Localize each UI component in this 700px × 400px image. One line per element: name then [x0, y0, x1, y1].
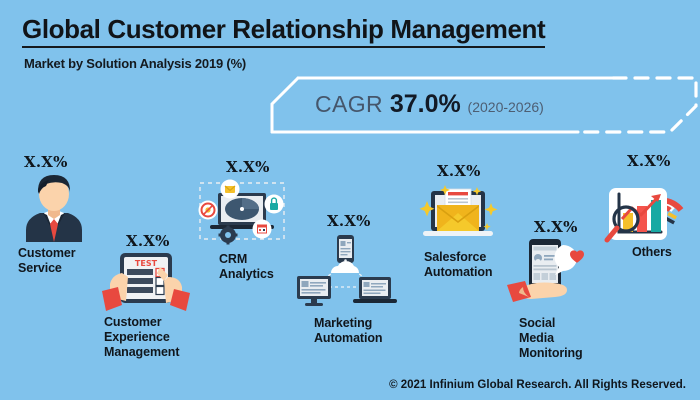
cloud-devices-icon: [293, 233, 397, 312]
percent-label: X.X%: [226, 158, 270, 176]
page-subtitle: Market by Solution Analysis 2019 (%): [24, 56, 246, 71]
item-label-line: Customer Experience Management: [104, 315, 179, 360]
percent-label: X.X%: [327, 212, 371, 230]
item-label-line: Social Media Monitoring: [519, 316, 583, 361]
item-label: Others: [632, 245, 672, 260]
percent-label: X.X%: [24, 153, 68, 171]
footer-copyright: © 2021 Infinium Global Research. All Rig…: [389, 379, 686, 391]
item-label: Social Media Monitoring: [519, 316, 583, 361]
item-label: Customer Experience Management: [104, 315, 179, 360]
item-label-line: Marketing Automation: [314, 316, 382, 346]
bar-chart-magnifier-icon: [603, 172, 689, 249]
percent-label: X.X%: [534, 218, 578, 236]
infographic-canvas: Global Customer Relationship Management …: [0, 0, 700, 400]
page-title: Global Customer Relationship Management: [22, 14, 545, 48]
cagr-label: CAGR: [315, 91, 383, 117]
item-label-line: Customer Service: [18, 246, 76, 276]
svg-text:TEST: TEST: [135, 259, 158, 268]
item-label: Salesforce Automation: [424, 250, 492, 280]
cagr-value: 37.0%: [390, 90, 461, 118]
item-label-line: Others: [632, 245, 672, 260]
item-label-line: CRM Analytics: [219, 252, 274, 282]
cagr-range: (2020-2026): [468, 99, 544, 115]
laptop-envelope-icon: [407, 183, 509, 256]
percent-label: X.X%: [437, 162, 481, 180]
cagr-banner: CAGR 37.0% (2020-2026): [268, 76, 700, 134]
percent-label: X.X%: [627, 152, 671, 170]
item-label: Customer Service: [18, 246, 76, 276]
laptop-dashboard-icon: [192, 177, 292, 254]
item-label: CRM Analytics: [219, 252, 274, 282]
item-label-line: Salesforce Automation: [424, 250, 492, 280]
item-label: Marketing Automation: [314, 316, 382, 346]
clipboard-test-icon: TEST: [98, 251, 194, 322]
cagr-text: CAGR 37.0% (2020-2026): [315, 90, 544, 119]
hand-phone-heart-icon: [505, 237, 601, 314]
percent-label: X.X%: [126, 232, 170, 250]
businessman-icon: [16, 172, 92, 247]
